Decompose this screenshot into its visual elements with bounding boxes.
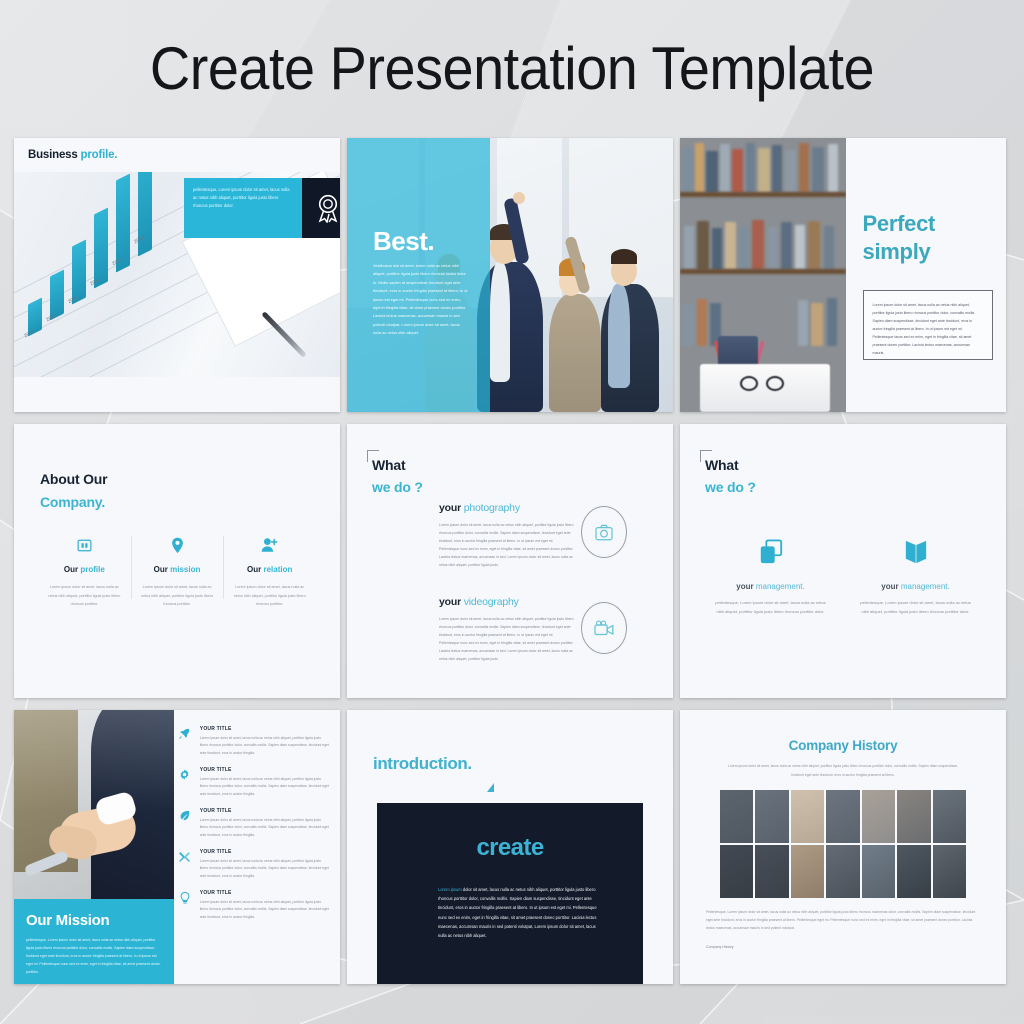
video-camera-icon — [594, 620, 614, 636]
column-title-accent: mission — [170, 565, 200, 574]
library-photo — [680, 138, 846, 412]
column-title-accent: management. — [901, 582, 950, 591]
mission-item[interactable]: YOUR TITLE Lorem ipsum dolor sit amet, l… — [177, 890, 330, 921]
column-our-relation[interactable]: Our relation Lorem ipsum dolor sit amet,… — [223, 534, 316, 609]
open-book-icon — [857, 536, 974, 568]
tools-icon — [177, 849, 193, 880]
slide8-body-accent: Lorem ipsum — [438, 887, 462, 892]
slide9-caption: Company History — [706, 945, 734, 949]
slide-what-we-do-photography[interactable]: What we do ? your photography Lorem ipsu… — [347, 424, 673, 698]
slide4-heading: About Our Company. — [40, 468, 107, 513]
camera-icon — [595, 524, 613, 541]
column-management-devices[interactable]: your management. pellentesque, Lorem ips… — [698, 536, 843, 616]
column-management-book[interactable]: your management. pellentesque, Lorem ips… — [843, 536, 988, 616]
mission-item[interactable]: YOUR TITLE Lorem ipsum dolor sit amet, l… — [177, 849, 330, 880]
slide8-dark-panel: create Lorem ipsum dolor sit amet, lacus… — [377, 803, 643, 984]
mosaic-tile — [755, 790, 788, 843]
our-mission-block: Our Mission pellentesque, Lorem ipsum do… — [14, 899, 174, 984]
slide3-box-text: Lorem ipsum dolor sit amet, lacus nulla … — [873, 301, 983, 358]
mosaic-tile — [755, 845, 788, 898]
column-body: pellentesque, Lorem ipsum dolor sit amet… — [857, 598, 974, 616]
column-title-accent: management. — [756, 582, 805, 591]
mission-item-title: YOUR TITLE — [200, 890, 330, 896]
column-our-profile[interactable]: Our profile Lorem ipsum dolor sit amet, … — [38, 534, 131, 609]
slide3-heading: Perfect simply — [863, 210, 936, 266]
photo-mosaic — [720, 790, 966, 898]
slide3-heading-line1: Perfect — [863, 211, 936, 236]
column-title-prefix: your — [881, 582, 898, 591]
mosaic-tile — [933, 790, 966, 843]
slide2-body: Vestibulum nisl sit amet, lorem nulla ac… — [373, 262, 468, 338]
block-title: your videography — [439, 596, 574, 608]
mosaic-tile — [791, 790, 824, 843]
slide-about-our-company[interactable]: About Our Company. Our profile Lorem ips… — [14, 424, 340, 698]
mosaic-tile — [720, 790, 753, 843]
slide-grid: Business profile. 2009 2010 2011 2012 20… — [14, 138, 1010, 984]
column-title-accent: relation — [263, 565, 292, 574]
page-title: Create Presentation Template — [36, 34, 988, 103]
our-mission-body: pellentesque, Lorem ipsum dolor sit amet… — [26, 937, 162, 976]
slide1-heading-dark: Business — [28, 149, 78, 161]
block-title-accent: photography — [464, 502, 520, 514]
block-title-prefix: your — [439, 596, 461, 608]
column-title: your management. — [712, 582, 829, 591]
column-title-accent: profile — [80, 565, 104, 574]
slide1-heading: Business profile. — [28, 149, 117, 161]
mission-item-title: YOUR TITLE — [200, 849, 330, 855]
mosaic-tile — [720, 845, 753, 898]
rocket-icon — [177, 726, 193, 757]
column-body: Lorem ipsum dolor sit amet, lacus nulla … — [48, 583, 121, 609]
block-body: Lorem ipsum dolor sit amet, lacus nulla … — [439, 521, 574, 569]
mosaic-tile — [862, 790, 895, 843]
block-body: Lorem ipsum dolor sit amet, lacus nulla … — [439, 615, 574, 663]
slide6-columns: your management. pellentesque, Lorem ips… — [698, 536, 988, 616]
slide4-heading-dark: About Our — [40, 471, 107, 487]
slide1-callout-text: pellentesque, Lorem ipsum dolor sit amet… — [193, 186, 293, 210]
mission-item-body: Lorem ipsum dolor sit amet, lacus nulla … — [200, 817, 330, 839]
column-body: Lorem ipsum dolor sit amet, lacus nulla … — [141, 583, 214, 609]
slide1-badge-panel — [302, 178, 340, 238]
slide9-subtitle-text: Lorem ipsum dolor sit amet, lacus nulla … — [724, 762, 962, 779]
slide6-heading: What we do ? — [705, 454, 756, 499]
column-body: Lorem ipsum dolor sit amet, lacus nulla … — [233, 583, 306, 609]
slide1-heading-accent: profile. — [81, 149, 118, 161]
column-title: Our profile — [48, 565, 121, 574]
slide5-heading-accent: we do ? — [372, 479, 423, 495]
mosaic-tile — [826, 790, 859, 843]
column-title: Our mission — [141, 565, 214, 574]
column-title-prefix: your — [736, 582, 753, 591]
slide2-heading: Best. — [373, 226, 434, 257]
videography-icon-circle[interactable] — [581, 602, 627, 654]
column-our-mission[interactable]: Our mission Lorem ipsum dolor sit amet, … — [131, 534, 224, 609]
mosaic-tile — [897, 790, 930, 843]
mission-item[interactable]: YOUR TITLE Lorem ipsum dolor sit amet, l… — [177, 726, 330, 757]
slide1-callout: pellentesque, Lorem ipsum dolor sit amet… — [184, 178, 302, 238]
mission-item-title: YOUR TITLE — [200, 808, 330, 814]
slide6-heading-accent: we do ? — [705, 479, 756, 495]
gear-icon — [177, 767, 193, 798]
column-title-prefix: Our — [64, 565, 78, 574]
location-pin-icon — [141, 534, 214, 556]
mission-item-title: YOUR TITLE — [200, 767, 330, 773]
mission-item-title: YOUR TITLE — [200, 726, 330, 732]
slide8-panel-heading: create — [377, 834, 643, 862]
slide6-heading-dark: What — [705, 457, 738, 473]
mosaic-tile — [897, 845, 930, 898]
mission-item-body: Lorem ipsum dolor sit amet, lacus nulla … — [200, 776, 330, 798]
slide-what-we-do-management[interactable]: What we do ? your management. pellentesq… — [680, 424, 1006, 698]
column-title-prefix: Our — [154, 565, 168, 574]
slide4-columns: Our profile Lorem ipsum dolor sit amet, … — [38, 534, 316, 609]
column-title-prefix: Our — [247, 565, 261, 574]
slide8-body-text: dolor sit amet, lacus nulla ac netus nib… — [438, 887, 597, 938]
slide8-panel-body: Lorem ipsum dolor sit amet, lacus nulla … — [438, 885, 605, 940]
mission-item-body: Lorem ipsum dolor sit amet, lacus nulla … — [200, 858, 330, 880]
slide-perfect-simply[interactable]: Perfect simply Lorem ipsum dolor sit ame… — [680, 138, 1006, 412]
arrow-marker-icon — [487, 783, 494, 792]
mission-items-list: YOUR TITLE Lorem ipsum dolor sit amet, l… — [177, 726, 330, 931]
mission-item-body: Lorem ipsum dolor sit amet, lacus nulla … — [200, 899, 330, 921]
our-mission-heading: Our Mission — [26, 912, 162, 929]
leaf-icon — [177, 808, 193, 839]
block-videography[interactable]: your videography Lorem ipsum dolor sit a… — [439, 596, 574, 663]
mission-item[interactable]: YOUR TITLE Lorem ipsum dolor sit amet, l… — [177, 808, 330, 839]
slide9-subtitle: Lorem ipsum dolor sit amet, lacus nulla … — [724, 762, 962, 779]
block-photography[interactable]: your photography Lorem ipsum dolor sit a… — [439, 502, 574, 569]
lightbulb-icon — [177, 890, 193, 921]
slide-company-history[interactable]: Company History Lorem ipsum dolor sit am… — [680, 710, 1006, 984]
id-card-icon — [48, 534, 121, 556]
mosaic-tile — [791, 845, 824, 898]
column-body: pellentesque, Lorem ipsum dolor sit amet… — [712, 598, 829, 616]
slide-best[interactable]: Best. Vestibulum nisl sit amet, lorem nu… — [347, 138, 673, 412]
mosaic-tile — [862, 845, 895, 898]
slide9-body: Pellentesque, Lorem ipsum dolor sit amet… — [706, 908, 980, 933]
slide-our-mission[interactable]: Our Mission pellentesque, Lorem ipsum do… — [14, 710, 340, 984]
add-person-icon — [233, 534, 306, 556]
slide5-heading: What we do ? — [372, 454, 423, 499]
block-title: your photography — [439, 502, 574, 514]
mosaic-tile — [826, 845, 859, 898]
column-title: your management. — [857, 582, 974, 591]
slide-introduction[interactable]: introduction. create Lorem ipsum dolor s… — [347, 710, 673, 984]
mosaic-tile — [933, 845, 966, 898]
slide3-heading-line2: simply — [863, 239, 931, 264]
slide4-heading-accent: Company. — [40, 494, 105, 510]
slide8-heading: introduction. — [373, 754, 472, 774]
slide3-text-box: Lorem ipsum dolor sit amet, lacus nulla … — [863, 290, 993, 360]
slide-business-profile[interactable]: Business profile. 2009 2010 2011 2012 20… — [14, 138, 340, 412]
slide9-body-text: Pellentesque, Lorem ipsum dolor sit amet… — [706, 908, 980, 933]
mission-item-body: Lorem ipsum dolor sit amet, lacus nulla … — [200, 735, 330, 757]
block-title-accent: videography — [464, 596, 519, 608]
slide5-heading-dark: What — [372, 457, 405, 473]
award-ribbon-icon — [315, 193, 340, 223]
slide2-body-text: Vestibulum nisl sit amet, lorem nulla ac… — [373, 262, 468, 338]
block-title-prefix: your — [439, 502, 461, 514]
photography-icon-circle[interactable] — [581, 506, 627, 558]
stacked-devices-icon — [712, 536, 829, 568]
mission-item[interactable]: YOUR TITLE Lorem ipsum dolor sit amet, l… — [177, 767, 330, 798]
slide9-heading: Company History — [680, 738, 1006, 753]
column-title: Our relation — [233, 565, 306, 574]
